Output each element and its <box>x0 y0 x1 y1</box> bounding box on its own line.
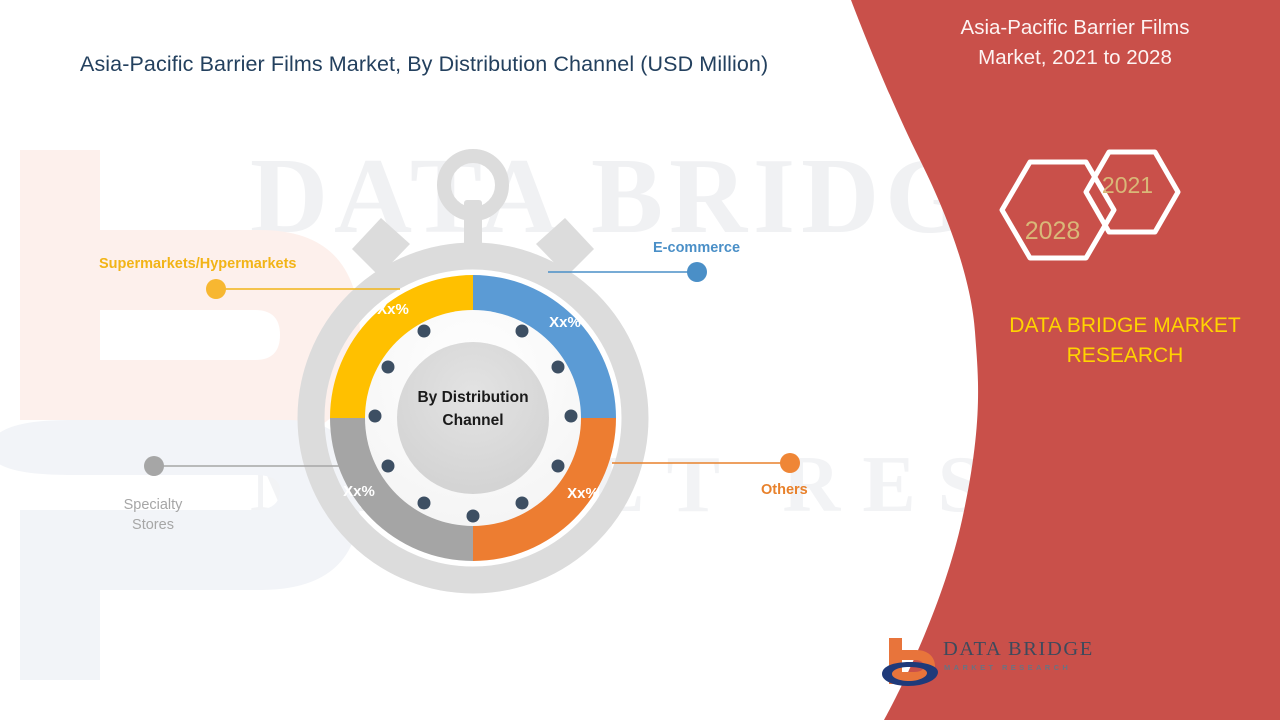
callout-label-specialty-line1: Specialty <box>124 497 183 513</box>
callout-label-supermarkets-hypermarkets: Supermarkets/Hypermarkets <box>99 256 296 272</box>
company-logo-text-main: DATA BRIDGE <box>943 638 1094 661</box>
infographic-canvas: DATA BRIDGE MARKET RESEARCH Asia-Pacific… <box>0 0 1280 720</box>
callout-label-specialty-stores: Specialty Stores <box>113 495 193 535</box>
leader-dot-ecommerce <box>687 262 707 282</box>
callout-label-others: Others <box>761 482 808 498</box>
callout-label-ecommerce: E-commerce <box>653 240 740 256</box>
center-label-line1: By Distribution <box>417 389 528 406</box>
callout-label-specialty-line2: Stores <box>132 517 174 533</box>
center-label-line2: Channel <box>442 412 503 429</box>
value-label-supermarkets: Xx% <box>377 301 409 318</box>
donut-chart: By Distribution Channel Xx% Xx% Xx% Xx% <box>0 0 1280 720</box>
company-logo-mark-icon <box>880 630 942 692</box>
value-label-others: Xx% <box>567 485 599 502</box>
company-logo: DATA BRIDGE MARKET RESEARCH <box>880 630 1100 700</box>
value-label-ecommerce: Xx% <box>549 314 581 331</box>
company-logo-text-sub: MARKET RESEARCH <box>944 663 1071 672</box>
value-label-specialty-stores: Xx% <box>343 483 375 500</box>
leader-dot-supermarkets <box>206 279 226 299</box>
leader-dot-specialty-stores <box>144 456 164 476</box>
leader-dot-others <box>780 453 800 473</box>
